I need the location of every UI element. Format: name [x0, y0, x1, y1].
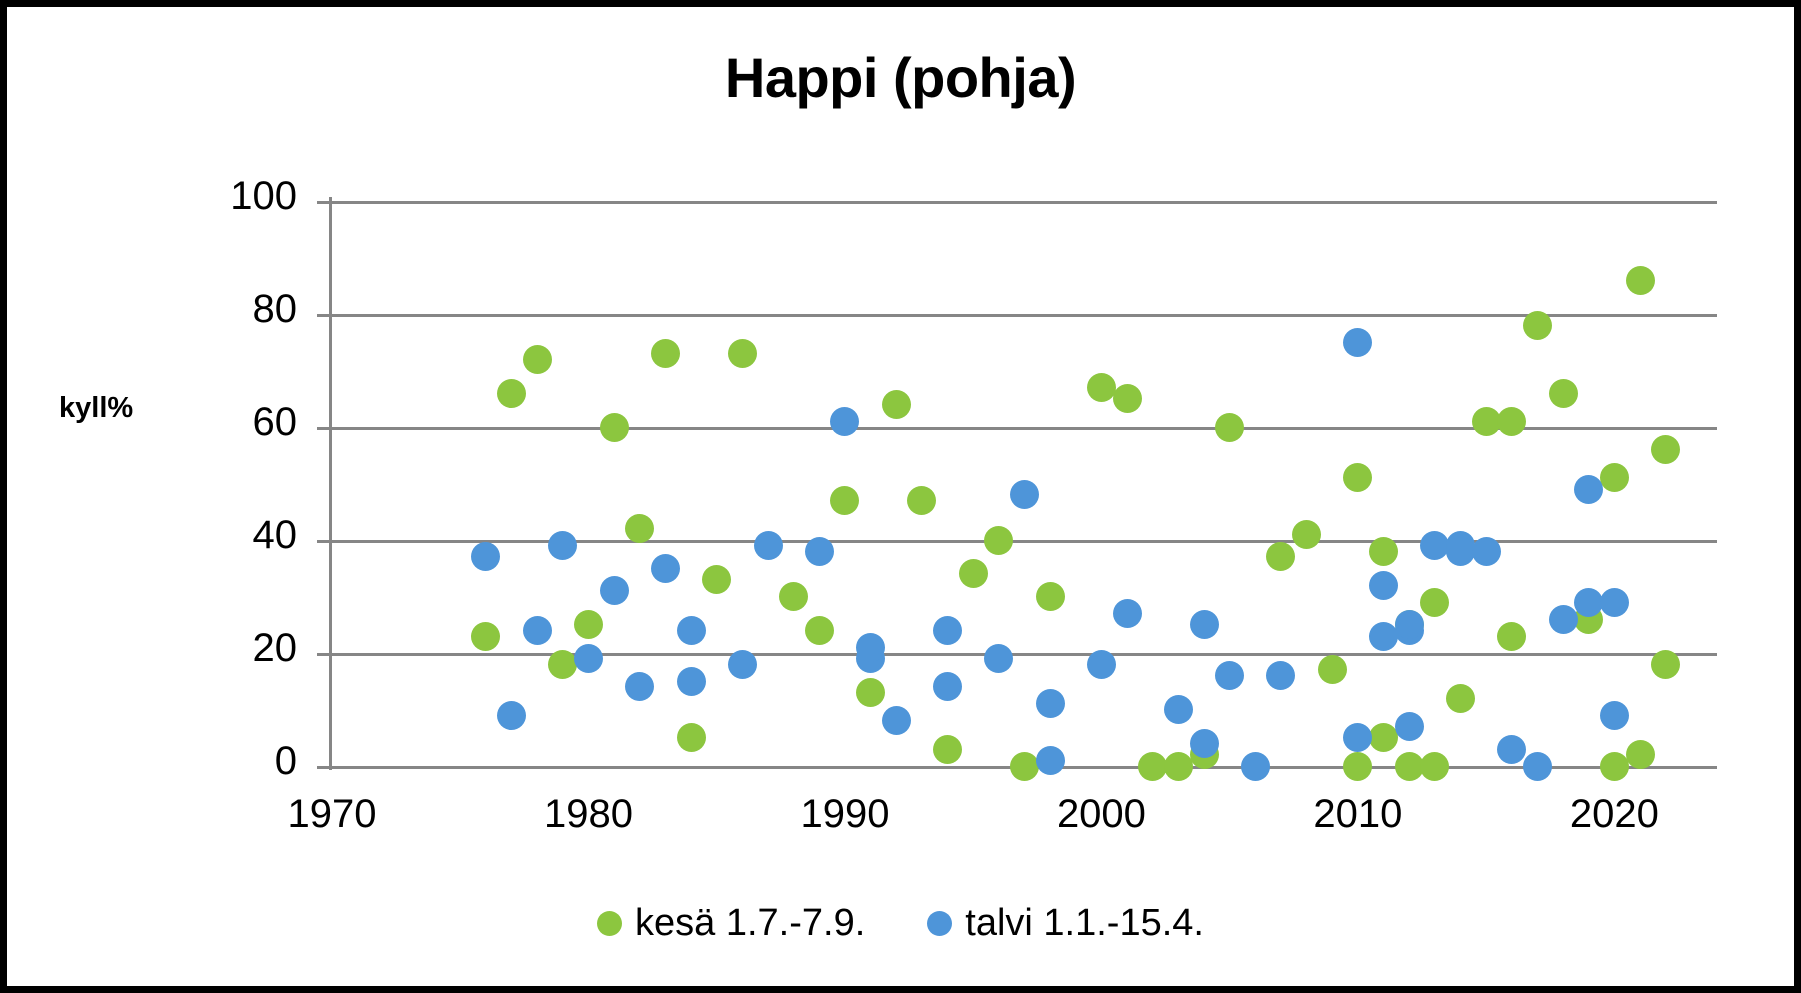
scatter-point	[1626, 740, 1655, 769]
scatter-point	[1600, 701, 1629, 730]
scatter-point	[1343, 328, 1372, 357]
scatter-point	[1497, 622, 1526, 651]
scatter-point	[1343, 723, 1372, 752]
scatter-point	[805, 616, 834, 645]
chart-title: Happi (pohja)	[7, 45, 1794, 110]
scatter-point	[1600, 588, 1629, 617]
scatter-point	[651, 339, 680, 368]
scatter-point	[1497, 407, 1526, 436]
scatter-point	[728, 650, 757, 679]
y-tick-mark	[317, 314, 330, 317]
scatter-point	[1036, 689, 1065, 718]
y-tick-label: 100	[177, 174, 297, 219]
scatter-point	[1241, 752, 1270, 781]
scatter-point	[1395, 610, 1424, 639]
scatter-point	[1190, 610, 1219, 639]
chart-legend: kesä 1.7.-7.9.talvi 1.1.-15.4.	[7, 902, 1794, 945]
legend-marker-icon	[597, 911, 622, 936]
scatter-point	[677, 616, 706, 645]
y-tick-label: 0	[177, 739, 297, 784]
legend-item[interactable]: talvi 1.1.-15.4.	[927, 902, 1204, 945]
scatter-point	[1600, 752, 1629, 781]
x-tick-label: 1980	[488, 792, 688, 837]
legend-marker-icon	[927, 911, 952, 936]
scatter-point	[523, 616, 552, 645]
scatter-point	[1420, 531, 1449, 560]
scatter-point	[805, 537, 834, 566]
y-tick-label: 40	[177, 513, 297, 558]
scatter-point	[497, 379, 526, 408]
scatter-point	[1549, 379, 1578, 408]
scatter-point	[1318, 655, 1347, 684]
scatter-point	[1420, 588, 1449, 617]
scatter-point	[1266, 542, 1295, 571]
scatter-point	[728, 339, 757, 368]
y-tick-mark	[317, 427, 330, 430]
legend-label: kesä 1.7.-7.9.	[635, 902, 865, 945]
scatter-point	[1420, 752, 1449, 781]
scatter-point	[625, 672, 654, 701]
scatter-point	[1523, 752, 1552, 781]
scatter-point	[1113, 599, 1142, 628]
scatter-point	[933, 735, 962, 764]
scatter-point	[933, 672, 962, 701]
scatter-point	[1446, 537, 1475, 566]
y-tick-mark	[317, 201, 330, 204]
scatter-point	[625, 514, 654, 543]
scatter-point	[497, 701, 526, 730]
scatter-point	[1138, 752, 1167, 781]
x-tick-label: 2000	[1001, 792, 1201, 837]
scatter-point	[1446, 684, 1475, 713]
gridline	[332, 201, 1717, 204]
y-tick-label: 80	[177, 287, 297, 332]
scatter-point	[830, 407, 859, 436]
y-tick-label: 20	[177, 626, 297, 671]
scatter-point	[1036, 582, 1065, 611]
scatter-point	[471, 542, 500, 571]
y-axis-title: kyll%	[59, 392, 133, 425]
scatter-point	[1395, 712, 1424, 741]
scatter-point	[600, 413, 629, 442]
scatter-point	[1010, 752, 1039, 781]
scatter-point	[907, 486, 936, 515]
scatter-point	[1472, 407, 1501, 436]
scatter-point	[1292, 520, 1321, 549]
scatter-point	[754, 531, 783, 560]
x-tick-label: 1970	[232, 792, 432, 837]
scatter-point	[779, 582, 808, 611]
scatter-point	[1574, 588, 1603, 617]
scatter-point	[830, 486, 859, 515]
scatter-point	[1113, 384, 1142, 413]
scatter-point	[677, 667, 706, 696]
scatter-point	[1600, 463, 1629, 492]
scatter-point	[1190, 729, 1219, 758]
scatter-point	[1215, 661, 1244, 690]
scatter-point	[933, 616, 962, 645]
scatter-point	[1472, 537, 1501, 566]
scatter-point	[548, 650, 577, 679]
scatter-point	[1010, 480, 1039, 509]
scatter-point	[574, 610, 603, 639]
gridline	[332, 653, 1717, 656]
scatter-point	[548, 531, 577, 560]
scatter-point	[1266, 661, 1295, 690]
scatter-point	[702, 565, 731, 594]
scatter-point	[984, 526, 1013, 555]
gridline	[332, 540, 1717, 543]
legend-item[interactable]: kesä 1.7.-7.9.	[597, 902, 865, 945]
y-tick-mark	[317, 653, 330, 656]
scatter-point	[1651, 435, 1680, 464]
x-tick-label: 2010	[1258, 792, 1458, 837]
scatter-point	[651, 554, 680, 583]
scatter-point	[1087, 373, 1116, 402]
scatter-point	[1215, 413, 1244, 442]
scatter-point	[1549, 605, 1578, 634]
gridline	[332, 314, 1717, 317]
y-tick-mark	[317, 540, 330, 543]
x-tick-label: 2020	[1514, 792, 1714, 837]
x-tick-label: 1990	[745, 792, 945, 837]
scatter-point	[1574, 475, 1603, 504]
scatter-point	[677, 723, 706, 752]
scatter-point	[984, 644, 1013, 673]
scatter-point	[574, 644, 603, 673]
scatter-point	[882, 706, 911, 735]
scatter-point	[1651, 650, 1680, 679]
scatter-point	[1369, 723, 1398, 752]
scatter-point	[1343, 463, 1372, 492]
scatter-point	[1369, 571, 1398, 600]
scatter-point	[600, 576, 629, 605]
scatter-point	[523, 345, 552, 374]
chart-container: Happi (pohja) kyll% 020406080100 1970198…	[0, 0, 1801, 993]
y-tick-label: 60	[177, 400, 297, 445]
scatter-point	[471, 622, 500, 651]
scatter-point	[1369, 537, 1398, 566]
scatter-point	[856, 678, 885, 707]
scatter-point	[882, 390, 911, 419]
legend-label: talvi 1.1.-15.4.	[965, 902, 1204, 945]
scatter-point	[1164, 752, 1193, 781]
scatter-point	[1343, 752, 1372, 781]
scatter-point	[1369, 622, 1398, 651]
plot-area	[332, 201, 1717, 766]
scatter-point	[1164, 695, 1193, 724]
scatter-point	[1087, 650, 1116, 679]
y-tick-mark	[317, 766, 330, 769]
scatter-point	[1395, 752, 1424, 781]
scatter-point	[856, 633, 885, 662]
scatter-point	[959, 559, 988, 588]
scatter-point	[1626, 266, 1655, 295]
scatter-point	[1497, 735, 1526, 764]
scatter-point	[1036, 746, 1065, 775]
scatter-point	[1523, 311, 1552, 340]
